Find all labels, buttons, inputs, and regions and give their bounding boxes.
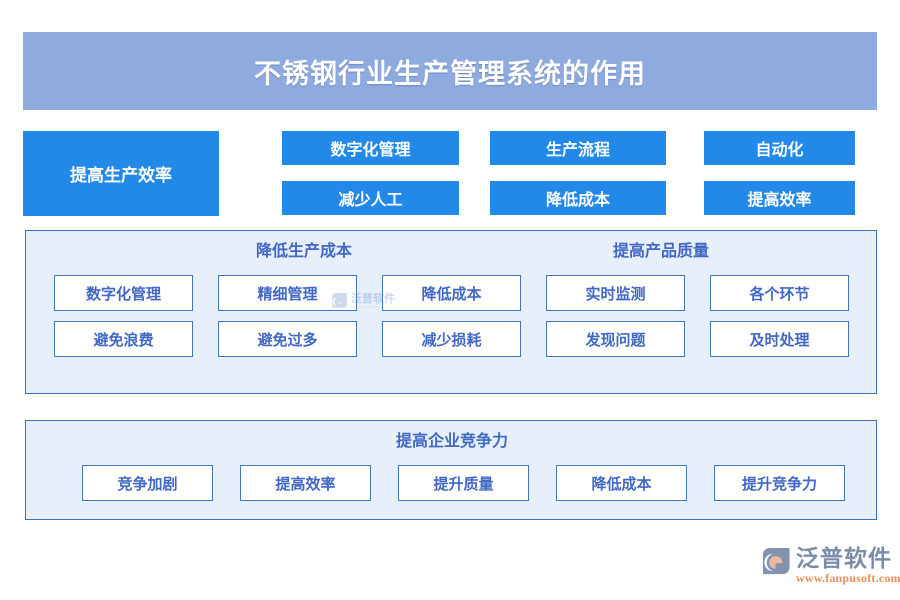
pill-row2-col2[interactable]: 降低成本 — [490, 181, 666, 215]
header-banner: 不锈钢行业生产管理系统的作用 — [23, 32, 877, 110]
cell-b-c1[interactable]: 竞争加剧 — [82, 465, 213, 501]
cell-a-r2c5[interactable]: 及时处理 — [710, 321, 849, 357]
cell-label: 避免过多 — [257, 329, 317, 350]
cell-a-r1c3[interactable]: 降低成本 — [382, 275, 521, 311]
logo-url: www.fanpusoft.com — [796, 571, 900, 586]
hero-label: 提高生产效率 — [70, 161, 172, 186]
cell-a-r2c1[interactable]: 避免浪费 — [54, 321, 193, 357]
logo-brand: 泛普软件 — [796, 546, 900, 570]
cell-label: 及时处理 — [749, 329, 809, 350]
pill-label: 数字化管理 — [330, 136, 410, 160]
cell-a-r2c4[interactable]: 发现问题 — [546, 321, 685, 357]
cell-a-r1c5[interactable]: 各个环节 — [710, 275, 849, 311]
cell-label: 避免浪费 — [93, 329, 153, 350]
cell-a-r2c2[interactable]: 避免过多 — [218, 321, 357, 357]
logo-text: 泛普软件 www.fanpusoft.com — [796, 546, 900, 586]
cell-b-c4[interactable]: 降低成本 — [556, 465, 687, 501]
pill-row1-col2[interactable]: 生产流程 — [490, 131, 666, 165]
brand-logo[interactable]: 泛普软件 www.fanpusoft.com — [760, 546, 900, 586]
cell-a-r1c1[interactable]: 数字化管理 — [54, 275, 193, 311]
pill-row2-col1[interactable]: 减少人工 — [282, 181, 459, 215]
pill-label: 减少人工 — [338, 186, 402, 210]
pill-label: 降低成本 — [546, 186, 610, 210]
pill-label: 生产流程 — [546, 136, 610, 160]
section-title-improve-quality: 提高产品质量 — [496, 237, 826, 261]
cell-label: 数字化管理 — [86, 283, 161, 304]
cell-label: 发现问题 — [585, 329, 645, 350]
cell-a-r1c4[interactable]: 实时监测 — [546, 275, 685, 311]
diagram-canvas: 不锈钢行业生产管理系统的作用 提高生产效率 数字化管理 生产流程 自动化 减少人… — [0, 0, 900, 600]
cell-label: 降低成本 — [421, 283, 481, 304]
cell-label: 减少损耗 — [421, 329, 481, 350]
cell-label: 竞争加剧 — [117, 473, 177, 494]
cell-label: 各个环节 — [749, 283, 809, 304]
pill-label: 自动化 — [755, 136, 803, 160]
cell-label: 提升竞争力 — [742, 473, 817, 494]
cell-b-c3[interactable]: 提升质量 — [398, 465, 529, 501]
cell-a-r2c3[interactable]: 减少损耗 — [382, 321, 521, 357]
cell-label: 精细管理 — [257, 283, 317, 304]
cell-label: 降低成本 — [591, 473, 651, 494]
panel-cost-and-quality: 降低生产成本 提高产品质量 数字化管理 精细管理 降低成本 实时监测 各个环节 … — [25, 230, 877, 394]
panel-a-titles: 降低生产成本 提高产品质量 — [26, 231, 876, 265]
panel-a-cell-grid: 数字化管理 精细管理 降低成本 实时监测 各个环节 避免浪费 避免过多 减少损耗… — [54, 275, 849, 357]
pill-row1-col3[interactable]: 自动化 — [704, 131, 855, 165]
hero-block-improve-efficiency[interactable]: 提高生产效率 — [23, 131, 219, 216]
cell-a-r1c2[interactable]: 精细管理 — [218, 275, 357, 311]
fanpu-logo-icon — [760, 546, 791, 577]
section-title-reduce-cost: 降低生产成本 — [144, 237, 464, 261]
page-title: 不锈钢行业生产管理系统的作用 — [254, 52, 646, 91]
pill-row1-col1[interactable]: 数字化管理 — [282, 131, 459, 165]
cell-b-c2[interactable]: 提高效率 — [240, 465, 371, 501]
cell-label: 提升质量 — [433, 473, 493, 494]
cell-b-c5[interactable]: 提升竞争力 — [714, 465, 845, 501]
section-title-competitiveness: 提高企业竞争力 — [26, 427, 878, 451]
panel-competitiveness: 提高企业竞争力 竞争加剧 提高效率 提升质量 降低成本 提升竞争力 — [25, 420, 877, 520]
cell-label: 实时监测 — [585, 283, 645, 304]
pill-label: 提高效率 — [747, 186, 811, 210]
panel-b-cell-grid: 竞争加剧 提高效率 提升质量 降低成本 提升竞争力 — [82, 465, 845, 501]
panel-b-titles: 提高企业竞争力 — [26, 421, 876, 455]
pill-row2-col3[interactable]: 提高效率 — [704, 181, 855, 215]
cell-label: 提高效率 — [275, 473, 335, 494]
